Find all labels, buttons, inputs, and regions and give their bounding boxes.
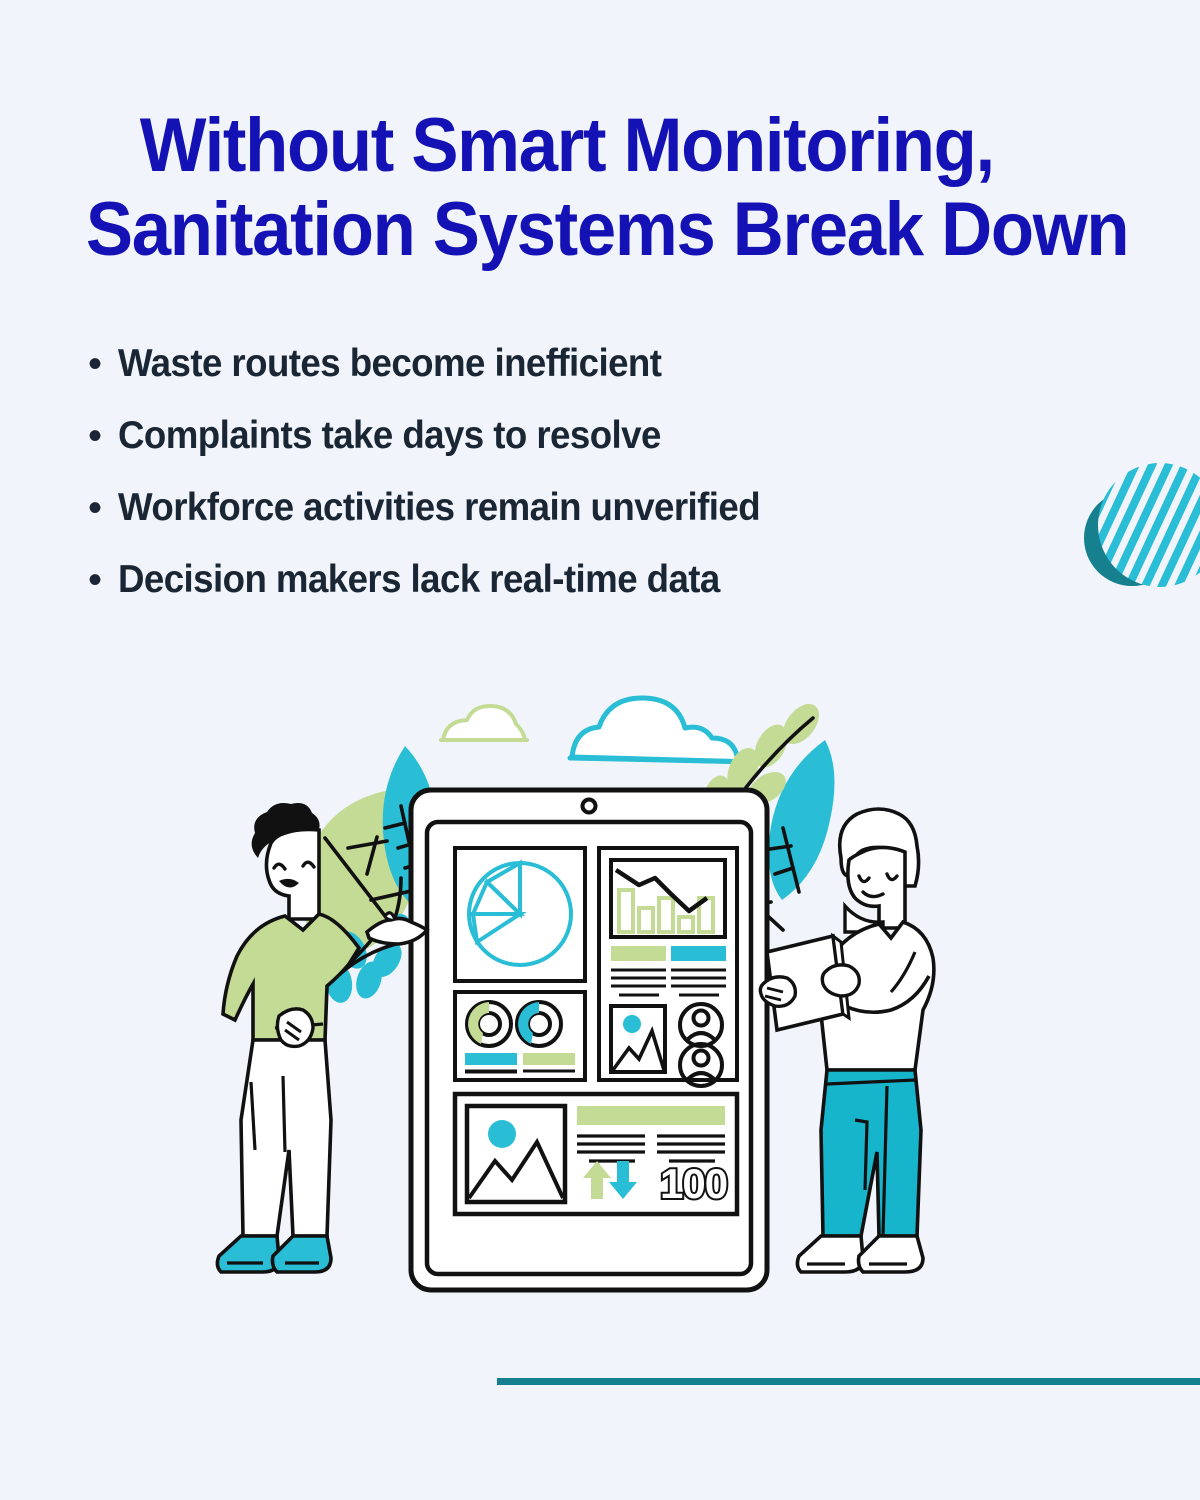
list-item-label: Complaints take days to resolve	[118, 412, 661, 460]
page-title-line-2: Sanitation Systems Break Down	[84, 188, 1088, 272]
list-item-label: Workforce activities remain unverified	[118, 484, 760, 532]
bullet-dot-icon: •	[88, 412, 118, 460]
list-item: • Workforce activities remain unverified	[88, 484, 1048, 556]
decorative-circles	[1060, 440, 1200, 610]
tag-cyan	[671, 946, 726, 961]
list-item: • Complaints take days to resolve	[88, 412, 1048, 484]
cloud-large	[570, 698, 755, 762]
person-right-hand-upper	[822, 965, 859, 996]
tablet-camera-icon	[583, 800, 596, 813]
cloud-small	[441, 706, 527, 740]
metric-summary-panel: 100	[455, 1094, 737, 1214]
bar-series	[619, 890, 713, 932]
metric-value: 100	[660, 1160, 727, 1207]
list-item: • Decision makers lack real-time data	[88, 556, 1048, 628]
page-title: Without Smart Monitoring, Sanitation Sys…	[84, 104, 1164, 272]
person-left-shoe	[273, 1236, 332, 1272]
person-right-pants	[821, 1070, 921, 1236]
bullet-dot-icon: •	[88, 340, 118, 388]
illustration-dashboard-scene: 100	[215, 680, 955, 1320]
bullet-dot-icon: •	[88, 484, 118, 532]
list-item: • Waste routes become inefficient	[88, 340, 1048, 412]
list-item-label: Waste routes become inefficient	[118, 340, 661, 388]
pie-chart-panel	[455, 848, 585, 981]
bullet-dot-icon: •	[88, 556, 118, 604]
person-left-head	[266, 829, 319, 919]
donut-charts-panel	[455, 992, 585, 1080]
list-item-label: Decision makers lack real-time data	[118, 556, 720, 604]
person-right-shoe	[797, 1236, 863, 1272]
person-right-shoe	[859, 1236, 924, 1272]
page-title-line-1: Without Smart Monitoring,	[84, 104, 1088, 188]
bullet-list: • Waste routes become inefficient • Comp…	[88, 340, 1048, 628]
tablet-device: 100	[411, 790, 767, 1290]
tag-green	[611, 946, 666, 961]
person-left-shoe	[217, 1236, 279, 1272]
bottom-divider	[497, 1378, 1200, 1385]
bar-line-chart-panel	[599, 848, 737, 1086]
